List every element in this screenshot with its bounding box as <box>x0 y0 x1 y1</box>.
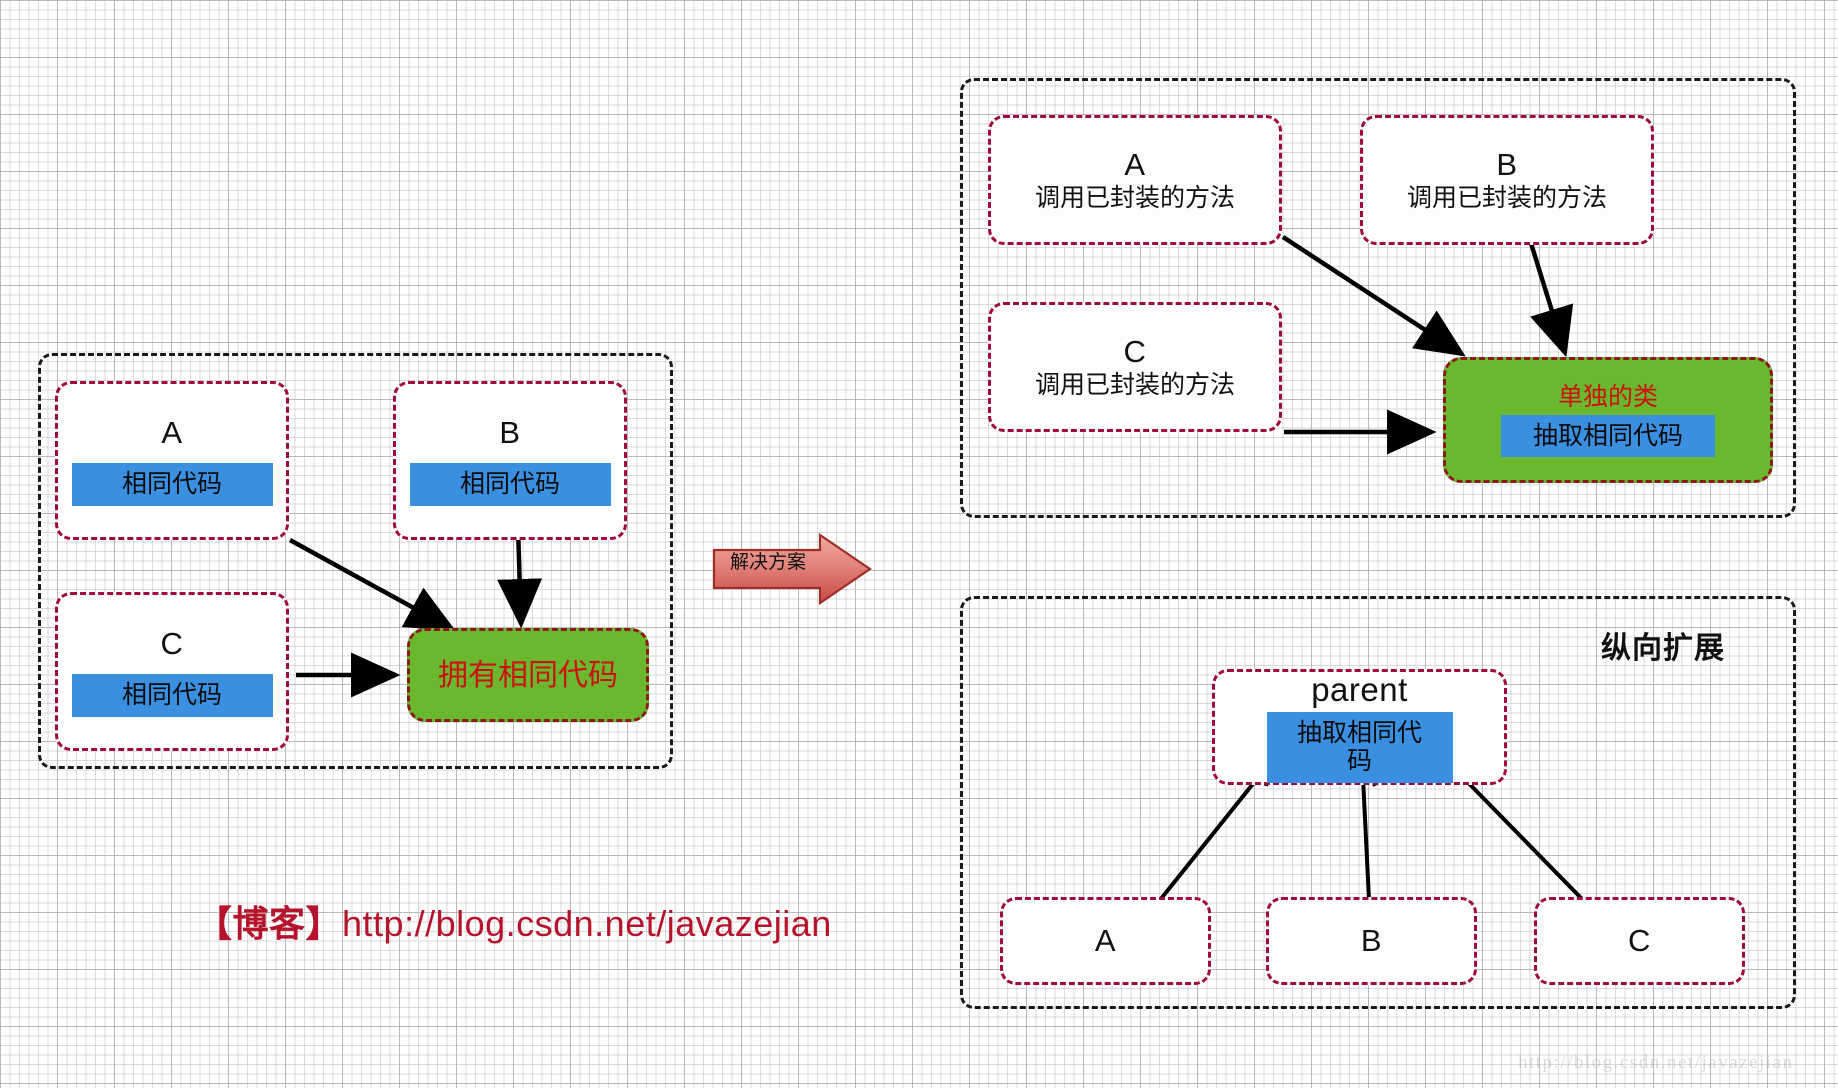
rb-parent-title: parent <box>1311 671 1408 709</box>
rt-node-b-title: B <box>1496 147 1517 183</box>
rt-node-b-sub: 调用已封装的方法 <box>1407 183 1607 213</box>
rb-child-a-title: A <box>1095 923 1116 959</box>
rt-node-a-title: A <box>1124 147 1145 183</box>
diagram-canvas: A 相同代码 B 相同代码 C 相同代码 拥有相同代码 解决方案 A 调用 <box>0 0 1838 1088</box>
rb-child-c[interactable]: C <box>1534 897 1745 985</box>
rt-standalone-class-chip: 抽取相同代码 <box>1501 415 1715 458</box>
left-node-c[interactable]: C 相同代码 <box>55 592 289 751</box>
left-shared-code-box[interactable]: 拥有相同代码 <box>407 628 649 722</box>
rt-standalone-class-box[interactable]: 单独的类 抽取相同代码 <box>1443 357 1773 483</box>
left-node-a[interactable]: A 相同代码 <box>55 381 289 540</box>
rb-child-b[interactable]: B <box>1266 897 1477 985</box>
rb-child-b-title: B <box>1361 923 1382 959</box>
rb-child-c-title: C <box>1628 923 1651 959</box>
rt-node-c[interactable]: C 调用已封装的方法 <box>988 302 1282 432</box>
blog-credit: 【博客】http://blog.csdn.net/javazejian <box>196 895 832 947</box>
left-shared-code-label: 拥有相同代码 <box>438 659 618 692</box>
rb-parent-node[interactable]: parent 抽取相同代码 <box>1212 669 1507 785</box>
left-node-c-chip: 相同代码 <box>72 674 273 717</box>
rt-standalone-class-label: 单独的类 <box>1558 383 1658 412</box>
page-watermark: http://blog.csdn.net/javazejian <box>1518 1052 1794 1074</box>
left-node-b[interactable]: B 相同代码 <box>393 381 627 540</box>
rb-child-a[interactable]: A <box>1000 897 1211 985</box>
blog-credit-tag: 【博客】 <box>196 903 342 944</box>
rt-node-a-sub: 调用已封装的方法 <box>1035 183 1235 213</box>
left-node-c-title: C <box>161 626 184 662</box>
left-node-a-chip: 相同代码 <box>72 463 273 506</box>
right-arrow-icon <box>712 533 872 607</box>
rb-parent-chip: 抽取相同代码 <box>1267 712 1453 784</box>
rt-node-c-sub: 调用已封装的方法 <box>1035 370 1235 400</box>
vertical-extension-caption: 纵向扩展 <box>1601 623 1725 667</box>
left-node-a-title: A <box>161 415 182 451</box>
rt-node-a[interactable]: A 调用已封装的方法 <box>988 115 1282 245</box>
left-node-b-title: B <box>499 415 520 451</box>
left-node-b-chip: 相同代码 <box>410 463 611 506</box>
blog-credit-url: http://blog.csdn.net/javazejian <box>342 903 832 944</box>
solution-transition-arrow: 解决方案 <box>712 533 872 607</box>
rt-node-c-title: C <box>1124 334 1147 370</box>
rt-node-b[interactable]: B 调用已封装的方法 <box>1360 115 1654 245</box>
